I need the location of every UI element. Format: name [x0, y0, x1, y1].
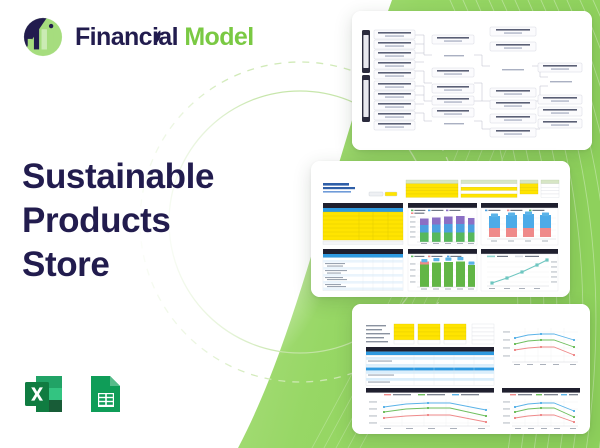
profitability-chart: [481, 203, 558, 245]
circle-bar-chart-logo: [22, 16, 64, 58]
dupont-tree-diagram: [352, 11, 592, 150]
profitability-reports-card[interactable]: [352, 304, 590, 434]
excel-icon[interactable]: [22, 372, 66, 416]
page-title: Sustainable Products Store: [22, 155, 272, 287]
brand-word-one: Financial: [75, 23, 178, 51]
cash-flow-forecast-chart: [408, 203, 477, 245]
headline-line-2: Products: [22, 199, 272, 243]
report-data-table: [366, 347, 494, 385]
poster-canvas: Financial Model Sustainable Products Sto…: [0, 0, 600, 448]
filetype-icons: [22, 372, 126, 416]
brand-word-two: Model: [184, 23, 253, 51]
google-sheets-icon[interactable]: [82, 372, 126, 416]
leaf-seed-icon: [151, 29, 162, 45]
profitability-reports-screenshot: [352, 304, 590, 434]
detailed-forecast-chart-top: [502, 324, 580, 371]
financial-dashboard-screenshot: [311, 161, 570, 297]
financial-dashboard-card[interactable]: [311, 161, 570, 297]
cash-inputs-table: [323, 203, 403, 244]
cash-statement-table: [323, 249, 403, 291]
investment-payback-chart: [481, 249, 558, 291]
brand-lockup: Financial Model: [22, 16, 254, 58]
headline-line-1: Sustainable: [22, 155, 272, 199]
headline-line-3: Store: [22, 243, 272, 287]
dupont-analysis-card[interactable]: [352, 11, 592, 150]
brand-wordmark: Financial Model: [75, 25, 254, 50]
cash-burn-chart: [408, 249, 477, 291]
